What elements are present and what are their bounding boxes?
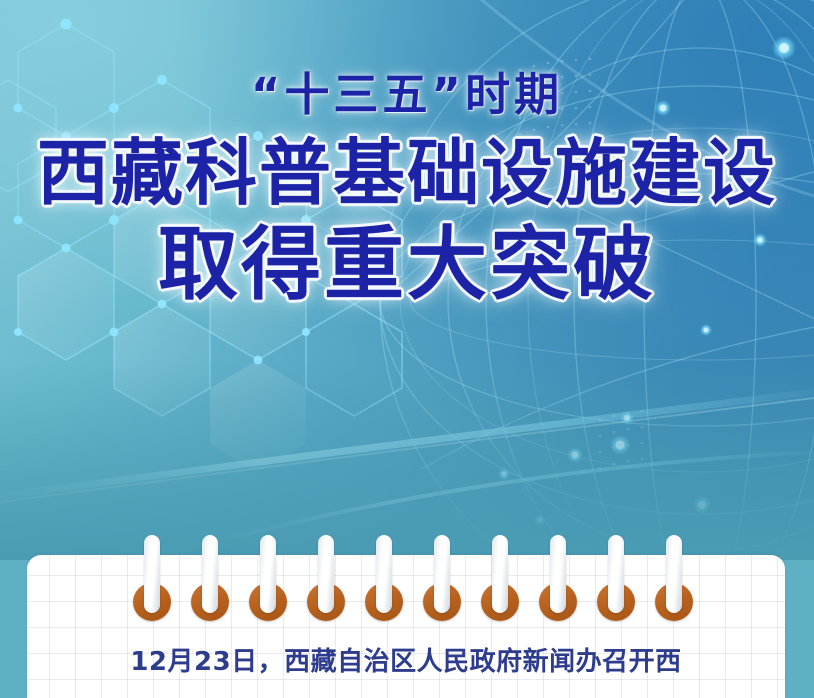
notebook-card: 12月23日，西藏自治区人民政府新闻办召开西 [27,555,785,698]
card-caption-text: 12月23日，西藏自治区人民政府新闻办召开西 [27,641,785,678]
hero-bottom-fade [0,360,814,560]
infographic-poster: “十三五”时期 西藏科普基础设施建设 取得重大突破 12月23日，西藏自治区人民… [0,0,814,698]
title-main-line-1: 西藏科普基础设施建设 [0,137,814,209]
title-main-line-2: 取得重大突破 [0,225,814,305]
poster-title-block: “十三五”时期 西藏科普基础设施建设 取得重大突破 [0,72,814,305]
title-kicker: “十三五”时期 [0,72,814,117]
